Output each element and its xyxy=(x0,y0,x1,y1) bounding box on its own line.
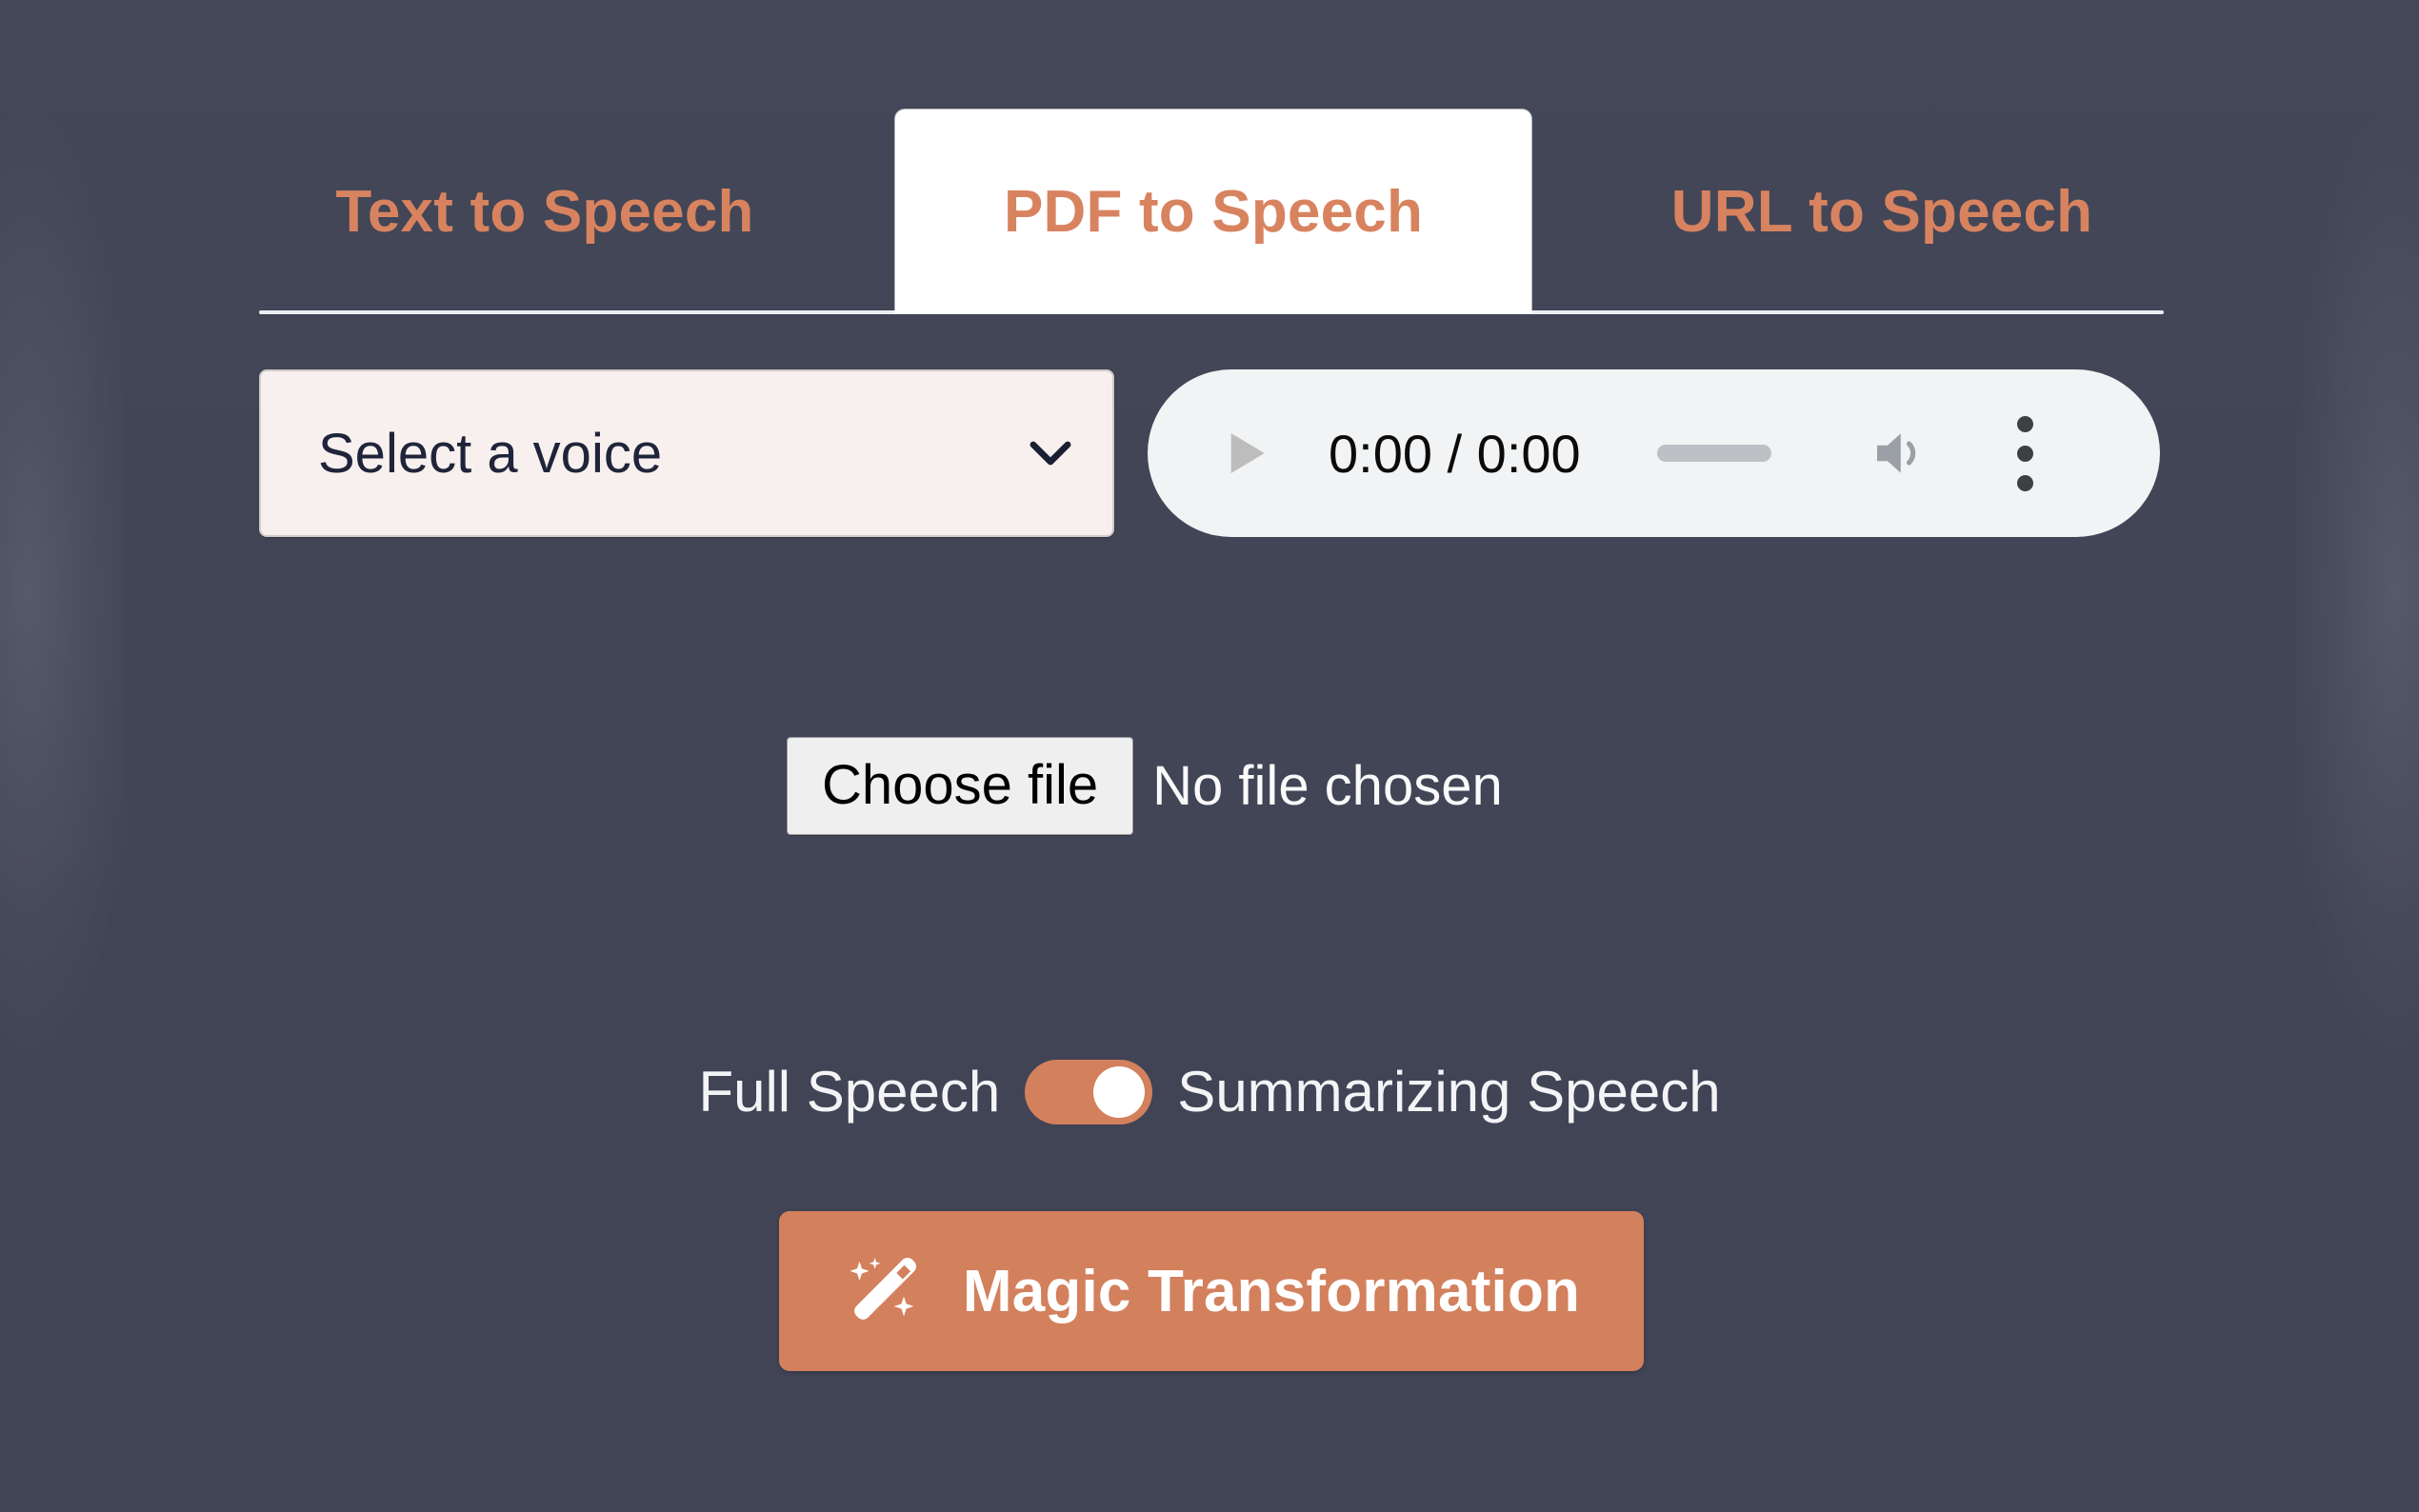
magic-wand-icon xyxy=(843,1251,923,1331)
tab-pdf-to-speech[interactable]: PDF to Speech xyxy=(895,109,1531,313)
play-icon[interactable] xyxy=(1220,426,1273,481)
switch-knob xyxy=(1093,1066,1145,1118)
tab-pdf-to-speech-label: PDF to Speech xyxy=(1004,178,1423,246)
volume-high-icon[interactable] xyxy=(1867,422,1929,485)
volume-slider[interactable] xyxy=(1657,445,1771,462)
voice-select-value: Select a voice xyxy=(318,422,1021,486)
file-status-text: No file chosen xyxy=(1152,754,1503,818)
app-stage: Text to Speech PDF to Speech URL to Spee… xyxy=(0,0,2419,1512)
tab-text-to-speech[interactable]: Text to Speech xyxy=(259,112,830,310)
speech-mode-switch[interactable] xyxy=(1025,1060,1152,1124)
summarizing-speech-label: Summarizing Speech xyxy=(1177,1059,1720,1124)
audio-player[interactable]: 0:00 / 0:00 xyxy=(1148,369,2160,537)
tab-bar: Text to Speech PDF to Speech URL to Spee… xyxy=(259,112,2164,314)
tab-url-to-speech[interactable]: URL to Speech xyxy=(1596,112,2168,310)
full-speech-label: Full Speech xyxy=(698,1059,1000,1124)
kebab-menu-icon[interactable] xyxy=(2017,416,2034,491)
tab-text-to-speech-label: Text to Speech xyxy=(335,178,753,246)
kebab-dot xyxy=(2017,446,2033,462)
audio-time-display: 0:00 / 0:00 xyxy=(1329,423,1581,485)
kebab-dot xyxy=(2017,475,2033,491)
file-input-row: Choose file No file chosen xyxy=(787,737,1503,835)
magic-transformation-label: Magic Transformation xyxy=(963,1258,1580,1325)
magic-transformation-button[interactable]: Magic Transformation xyxy=(779,1211,1644,1371)
chevron-down-icon xyxy=(1021,424,1080,483)
choose-file-button[interactable]: Choose file xyxy=(787,737,1133,835)
tab-url-to-speech-label: URL to Speech xyxy=(1671,178,2092,246)
voice-select[interactable]: Select a voice xyxy=(259,369,1114,537)
kebab-dot xyxy=(2017,416,2033,432)
speech-mode-toggle-row: Full Speech Summarizing Speech xyxy=(0,1059,2419,1124)
